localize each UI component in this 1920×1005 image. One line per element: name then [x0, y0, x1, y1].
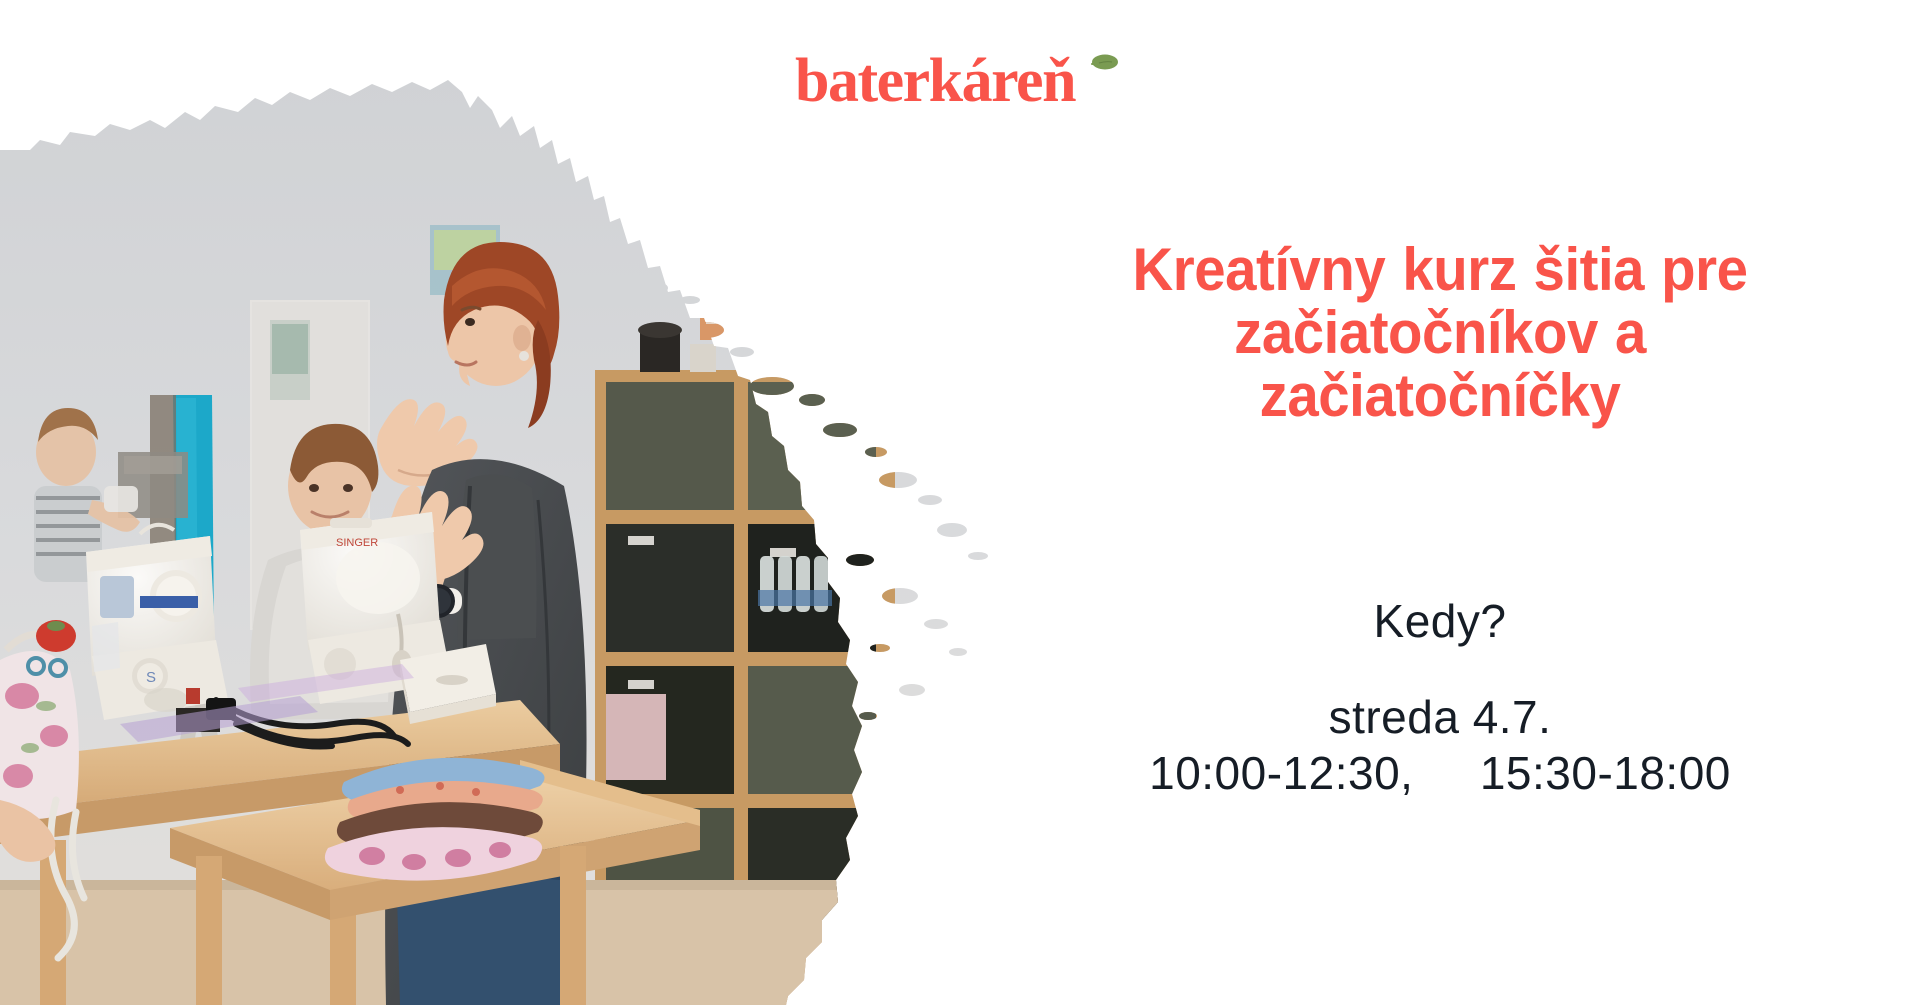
text-column: Kreatívny kurz šitia pre začiatočníkov a… — [1000, 0, 1900, 1005]
headline-line-2: začiatočníkov a — [1026, 301, 1853, 364]
poster-canvas: S SINGER — [0, 0, 1920, 1005]
headline-line-1: Kreatívny kurz šitia pre — [1026, 238, 1853, 301]
workshop-photo-svg: S SINGER — [0, 0, 1040, 1005]
headline-line-3: začiatočníčky — [1026, 364, 1853, 427]
page-title: Kreatívny kurz šitia pre začiatočníkov a… — [1026, 238, 1853, 427]
schedule-times: 10:00-12:30, 15:30-18:00 — [1000, 745, 1880, 801]
svg-text:SINGER: SINGER — [336, 537, 378, 549]
schedule-question-label: Kedy? — [1000, 595, 1880, 647]
svg-text:S: S — [146, 669, 156, 686]
schedule-date: streda 4.7. — [1000, 690, 1880, 744]
workshop-photo: S SINGER — [0, 0, 1040, 1005]
